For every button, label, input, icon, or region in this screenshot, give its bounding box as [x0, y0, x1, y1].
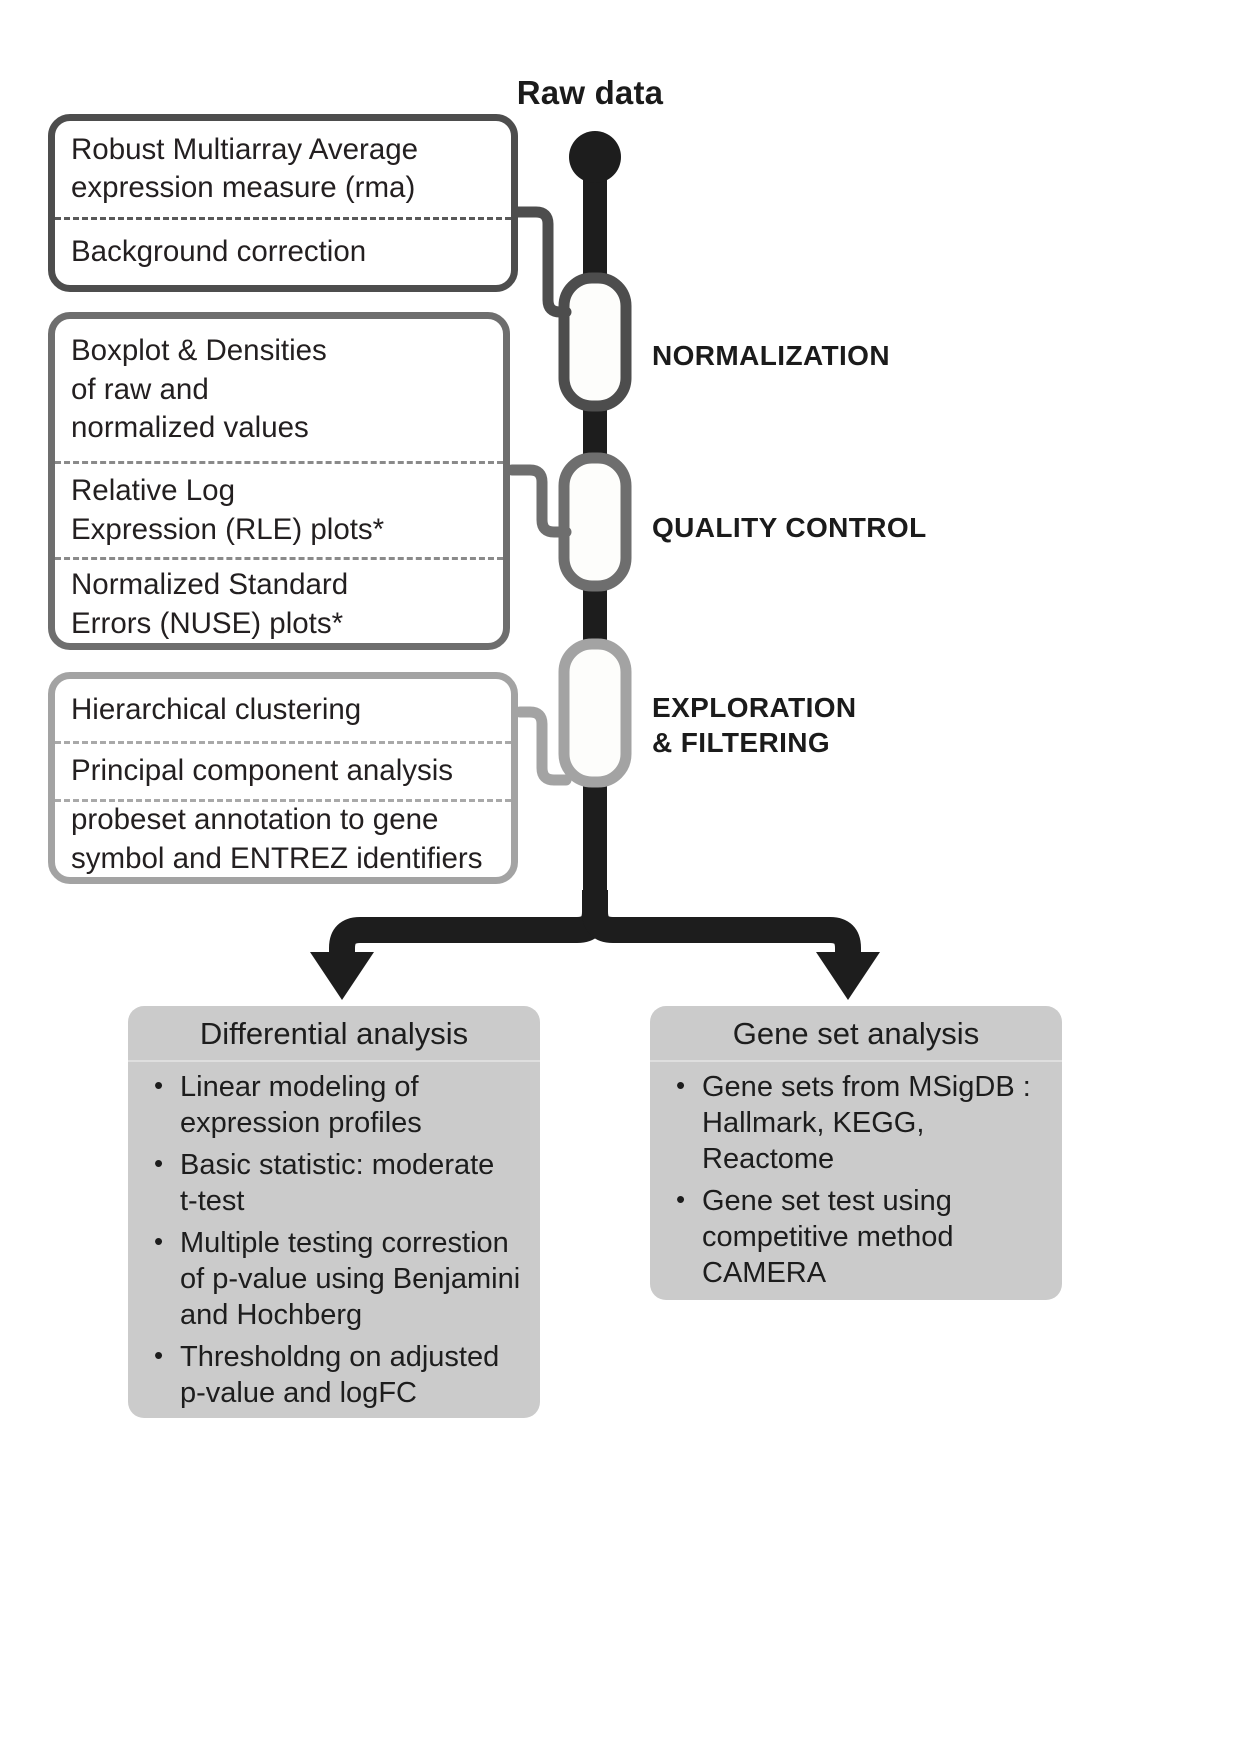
raw-data-node — [569, 131, 621, 183]
card-bullet-list: Gene sets from MSigDB : Hallmark, KEGG, … — [650, 1062, 1062, 1300]
panel-row: Relative Log Expression (RLE) plots* — [55, 461, 503, 557]
panel-row-line: normalized values — [71, 409, 503, 447]
panel-normalization[interactable]: Robust Multiarray Average expression mea… — [48, 114, 518, 292]
panel-row: Principal component analysis — [55, 741, 511, 799]
panel-row-line: symbol and ENTREZ identifiers — [71, 840, 511, 878]
panel-exploration-filtering[interactable]: Hierarchical clustering Principal compon… — [48, 672, 518, 884]
panel-row-line: Expression (RLE) plots* — [71, 511, 503, 549]
panel-row: Normalized Standard Errors (NUSE) plots* — [55, 557, 503, 649]
panel-row-line: Relative Log — [71, 472, 503, 510]
panel-row-line: Background correction — [71, 233, 511, 271]
connector-normalization — [518, 212, 566, 312]
stage-capsule-exploration-filtering[interactable] — [564, 644, 626, 782]
panel-row-line: Robust Multiarray Average — [71, 131, 511, 169]
connector-quality-control — [512, 470, 566, 532]
stage-capsule-normalization[interactable] — [564, 278, 626, 406]
branch-split — [310, 890, 880, 1000]
page-title: Raw data — [440, 74, 740, 112]
panel-row: probeset annotation to gene symbol and E… — [55, 799, 511, 877]
panel-row: Robust Multiarray Average expression mea… — [55, 121, 511, 217]
list-item: Gene sets from MSigDB : Hallmark, KEGG, … — [702, 1070, 1048, 1178]
card-bullet-list: Linear modeling of expression profiles B… — [128, 1062, 540, 1418]
stage-label-normalization: NORMALIZATION — [652, 338, 890, 373]
panel-row-line: Principal component analysis — [71, 752, 511, 790]
card-title: Gene set analysis — [650, 1006, 1062, 1062]
panel-row-line: Normalized Standard — [71, 566, 503, 604]
list-item: Gene set test using competitive method C… — [702, 1184, 1048, 1292]
stage-capsule-quality-control[interactable] — [564, 458, 626, 586]
panel-row: Boxplot & Densities of raw and normalize… — [55, 319, 503, 461]
stage-label-exploration-filtering: EXPLORATION & FILTERING — [652, 690, 857, 760]
card-differential-analysis[interactable]: Differential analysis Linear modeling of… — [128, 1006, 540, 1418]
panel-row-line: of raw and — [71, 371, 503, 409]
arrow-head-differential — [310, 952, 374, 1000]
panel-row: Background correction — [55, 217, 511, 285]
panel-row: Hierarchical clustering — [55, 679, 511, 741]
panel-row-line: Hierarchical clustering — [71, 691, 511, 729]
list-item: Linear modeling of expression profiles — [180, 1070, 526, 1142]
panel-row-line: probeset annotation to gene — [71, 801, 511, 839]
panel-quality-control[interactable]: Boxplot & Densities of raw and normalize… — [48, 312, 510, 650]
card-gene-set-analysis[interactable]: Gene set analysis Gene sets from MSigDB … — [650, 1006, 1062, 1300]
arrow-head-geneset — [816, 952, 880, 1000]
list-item: Basic statistic: moderate t-test — [180, 1148, 526, 1220]
panel-row-line: Boxplot & Densities — [71, 332, 503, 370]
list-item: Thresholdng on adjusted p-value and logF… — [180, 1340, 526, 1412]
panel-row-line: expression measure (rma) — [71, 169, 511, 207]
card-title: Differential analysis — [128, 1006, 540, 1062]
stage-label-quality-control: QUALITY CONTROL — [652, 510, 927, 545]
list-item: Multiple testing correstion of p-value u… — [180, 1226, 526, 1334]
panel-row-line: Errors (NUSE) plots* — [71, 605, 503, 643]
